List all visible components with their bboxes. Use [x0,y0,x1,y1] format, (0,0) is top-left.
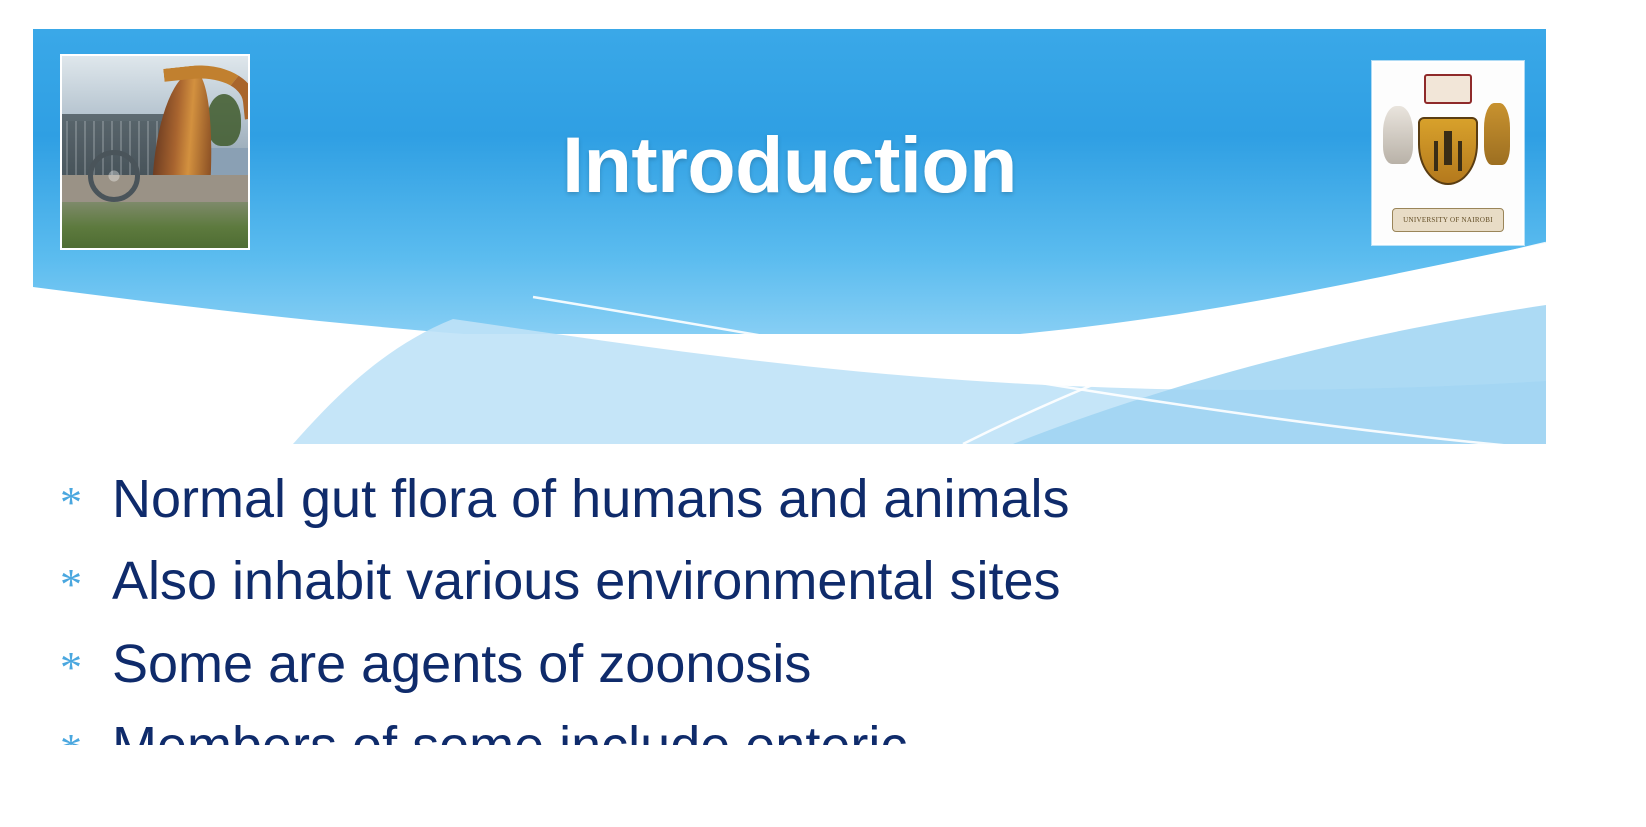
bullet-text: Normal gut flora of humans and animals [112,470,1069,528]
bullet-text: Some are agents of zoonosis [112,635,811,693]
asterisk-bullet-icon: * [60,563,112,607]
asterisk-bullet-icon: * [60,481,112,525]
bullet-text: Also inhabit various environmental sites [112,552,1060,610]
list-item: * Normal gut flora of humans and animals [60,470,1560,528]
list-item: * Also inhabit various environmental sit… [60,552,1560,610]
page-title: Introduction [33,125,1546,204]
crest-motto-text: UNIVERSITY OF NAIROBI [1393,209,1503,231]
slide-bullet-list: * Normal gut flora of humans and animals… [60,470,1560,769]
crest-motto-scroll: UNIVERSITY OF NAIROBI [1392,208,1504,232]
list-item: * Some are agents of zoonosis [60,635,1560,693]
bullet-text: Members of some include enteric [112,717,907,745]
asterisk-bullet-icon: * [60,646,112,690]
presentation-slide: UNIVERSITY OF NAIROBI Introduction * Nor… [0,0,1646,827]
photo-lawn [62,202,248,248]
banner-wave-decoration [33,29,1546,444]
crest-book-icon [1424,74,1472,104]
asterisk-bullet-icon: * [60,728,112,745]
slide-header-banner: UNIVERSITY OF NAIROBI Introduction [33,29,1546,444]
list-item: * Members of some include enteric [60,717,1560,745]
